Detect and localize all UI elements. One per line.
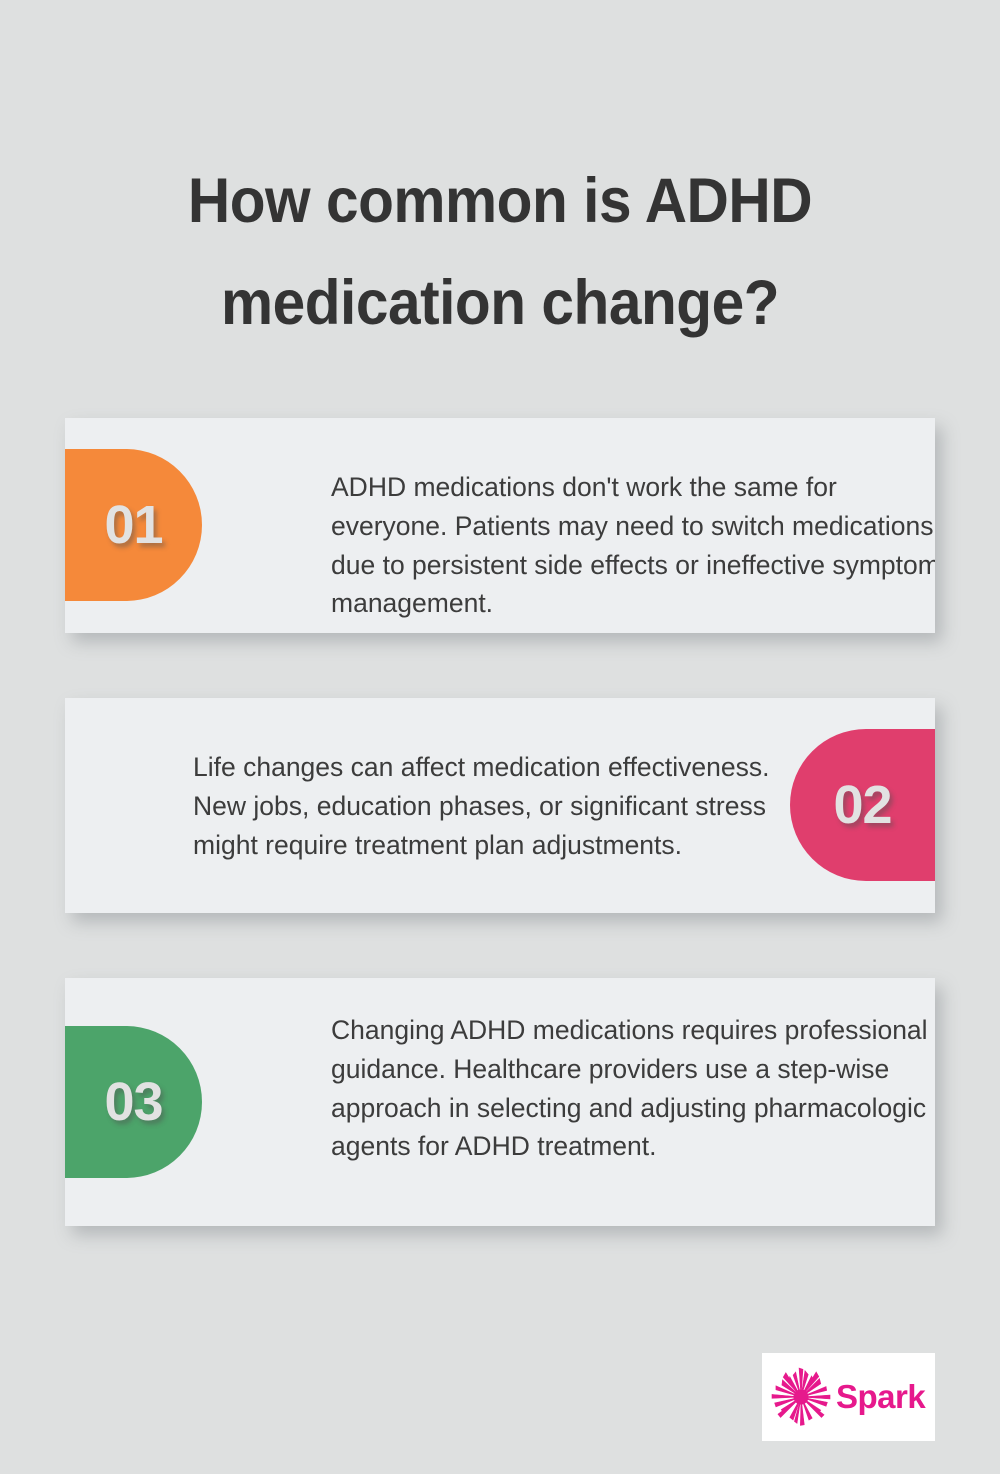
card-number-badge-3: 03 — [65, 1026, 202, 1178]
info-card-3: 03 Changing ADHD medications requires pr… — [65, 978, 935, 1226]
card-body-text-2: Life changes can affect medication effec… — [193, 748, 813, 864]
card-number-badge-1: 01 — [65, 449, 202, 601]
brand-logo: Spark — [762, 1353, 935, 1441]
card-body-text-1: ADHD medications don't work the same for… — [331, 468, 935, 623]
brand-wordmark: Spark — [836, 1378, 925, 1416]
page-title: How common is ADHD medication change? — [35, 150, 965, 354]
info-card-1: 01 ADHD medications don't work the same … — [65, 418, 935, 633]
card-body-text-3: Changing ADHD medications requires profe… — [331, 1011, 935, 1166]
starburst-icon — [768, 1364, 834, 1430]
info-card-2: 02 Life changes can affect medication ef… — [65, 698, 935, 913]
